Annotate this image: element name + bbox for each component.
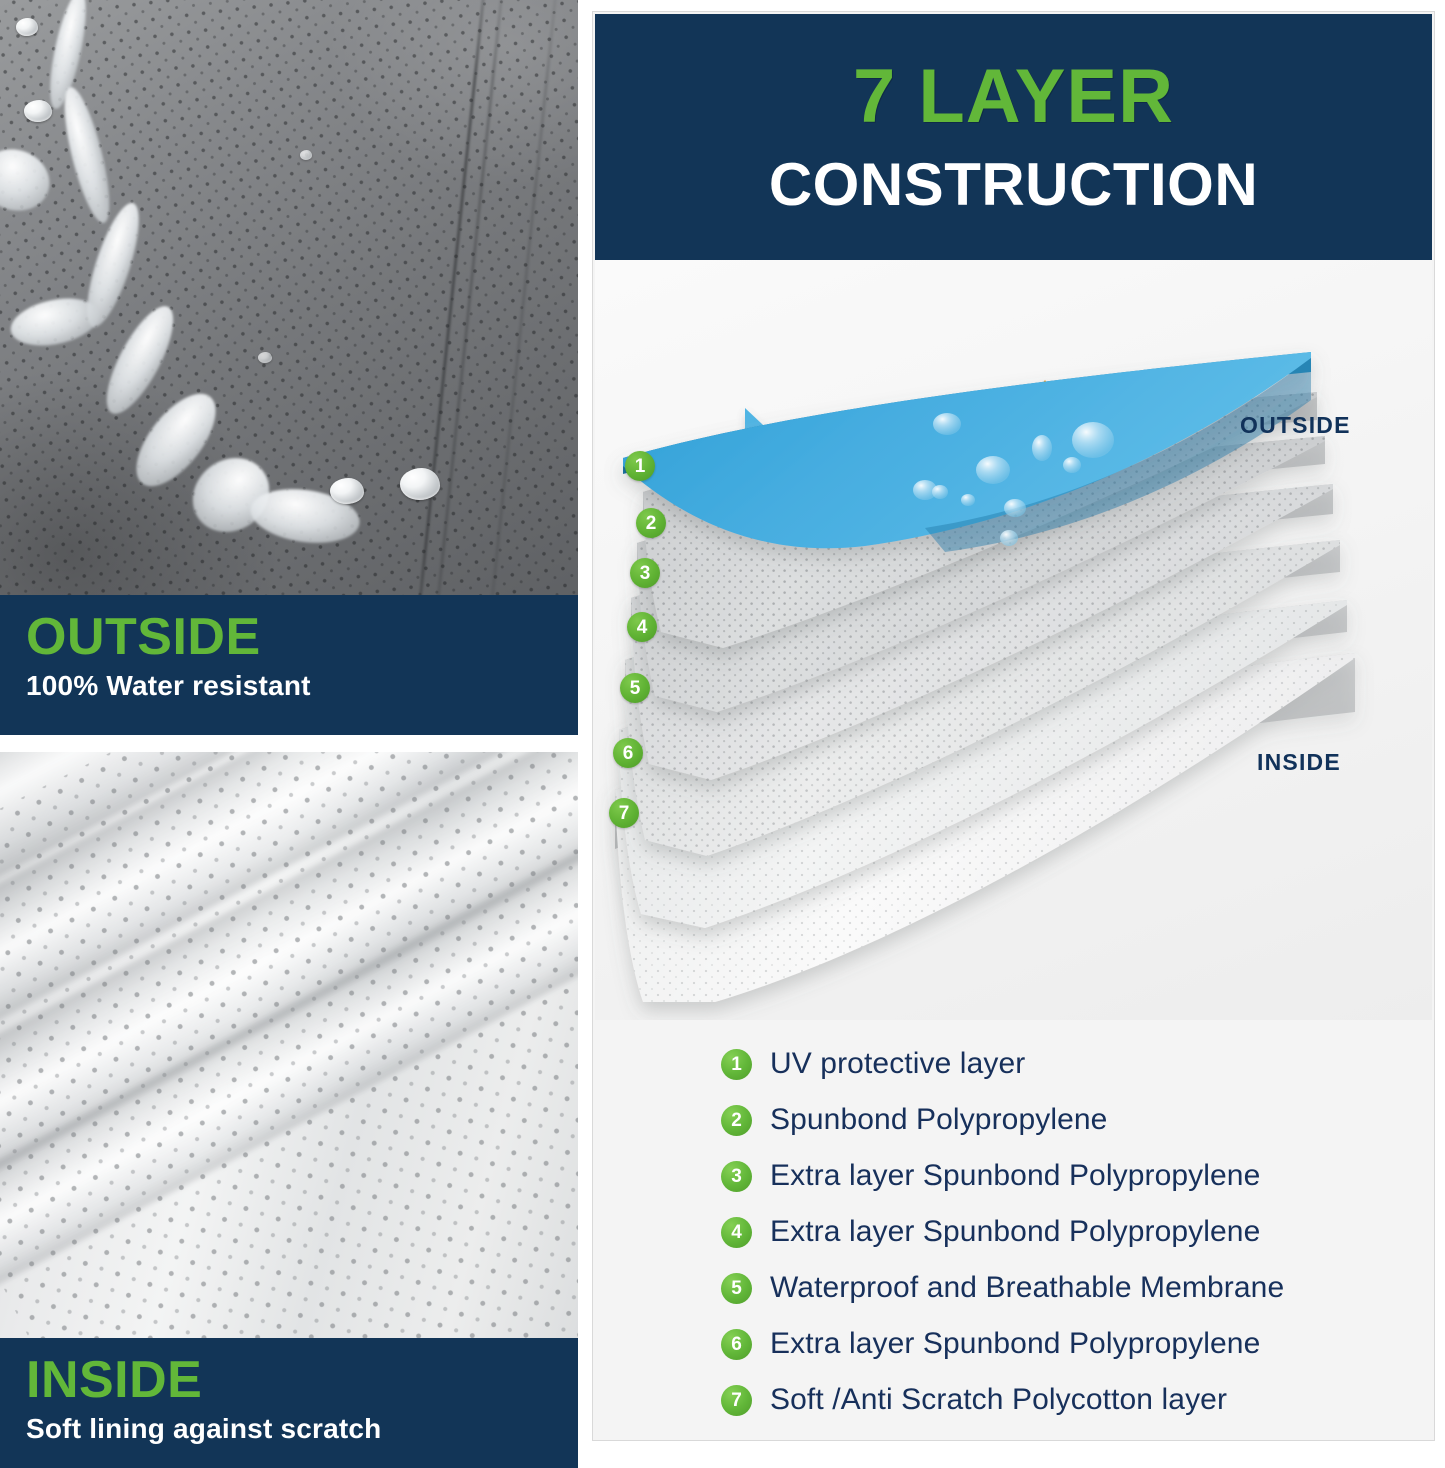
layer-legend-list: 1 UV protective layer 2 Spunbond Polypro… [595, 1024, 1432, 1428]
inside-fabric-photo [0, 752, 578, 1338]
legend-row-2: 2 Spunbond Polypropylene [721, 1092, 1432, 1148]
perforation-texture [0, 752, 578, 1338]
legend-label-3: Extra layer Spunbond Polypropylene [770, 1159, 1260, 1193]
panel-header: 7 LAYER CONSTRUCTION [595, 14, 1432, 260]
legend-badge-5: 5 [721, 1273, 752, 1304]
stack-badge-1: 1 [625, 451, 655, 481]
legend-row-3: 3 Extra layer Spunbond Polypropylene [721, 1148, 1432, 1204]
legend-label-6: Extra layer Spunbond Polypropylene [770, 1327, 1260, 1361]
water-bead [330, 478, 364, 504]
infographic-root: OUTSIDE 100% Water resistant [0, 0, 1445, 1468]
outside-caption-bar: OUTSIDE 100% Water resistant [0, 595, 578, 735]
outside-fabric-photo [0, 0, 578, 600]
stack-badge-5: 5 [620, 673, 650, 703]
stack-badge-3: 3 [630, 558, 660, 588]
legend-label-7: Soft /Anti Scratch Polycotton layer [770, 1383, 1227, 1417]
water-bead [16, 18, 38, 36]
legend-badge-7: 7 [721, 1385, 752, 1416]
legend-row-5: 5 Waterproof and Breathable Membrane [721, 1260, 1432, 1316]
stack-badge-6: 6 [613, 738, 643, 768]
inside-caption-title: INSIDE [26, 1354, 578, 1407]
legend-label-4: Extra layer Spunbond Polypropylene [770, 1215, 1260, 1249]
legend-badge-2: 2 [721, 1105, 752, 1136]
header-title-construction: CONSTRUCTION [769, 155, 1258, 215]
water-bead [300, 150, 312, 160]
stack-badge-4: 4 [627, 612, 657, 642]
stack-badge-7: 7 [609, 798, 639, 828]
legend-row-7: 7 Soft /Anti Scratch Polycotton layer [721, 1372, 1432, 1428]
legend-row-4: 4 Extra layer Spunbond Polypropylene [721, 1204, 1432, 1260]
layer-stack-illustration [595, 260, 1432, 1020]
legend-badge-3: 3 [721, 1161, 752, 1192]
layer-stack-diagram: OUTSIDE INSIDE 1 2 3 4 5 6 7 [595, 260, 1432, 1020]
inside-caption-subtitle: Soft lining against scratch [26, 1413, 578, 1445]
legend-badge-6: 6 [721, 1329, 752, 1360]
left-photo-column: OUTSIDE 100% Water resistant [0, 0, 578, 1468]
water-bead [400, 468, 440, 500]
construction-panel: 7 LAYER CONSTRUCTION [592, 11, 1435, 1441]
water-bead [258, 352, 272, 363]
legend-row-1: 1 UV protective layer [721, 1036, 1432, 1092]
legend-badge-1: 1 [721, 1049, 752, 1080]
legend-badge-4: 4 [721, 1217, 752, 1248]
inside-caption-bar: INSIDE Soft lining against scratch [0, 1338, 578, 1468]
inside-photo-card: INSIDE Soft lining against scratch [0, 752, 578, 1468]
stack-badge-2: 2 [636, 508, 666, 538]
header-title-layers: 7 LAYER [853, 59, 1174, 135]
diagram-outside-label: OUTSIDE [1240, 412, 1351, 439]
outside-photo-card: OUTSIDE 100% Water resistant [0, 0, 578, 735]
diagram-inside-label: INSIDE [1257, 749, 1341, 776]
outside-caption-subtitle: 100% Water resistant [26, 670, 578, 702]
water-bead [24, 100, 52, 122]
legend-label-1: UV protective layer [770, 1047, 1025, 1081]
legend-label-2: Spunbond Polypropylene [770, 1103, 1107, 1137]
outside-caption-title: OUTSIDE [26, 611, 578, 664]
legend-label-5: Waterproof and Breathable Membrane [770, 1271, 1284, 1305]
legend-row-6: 6 Extra layer Spunbond Polypropylene [721, 1316, 1432, 1372]
